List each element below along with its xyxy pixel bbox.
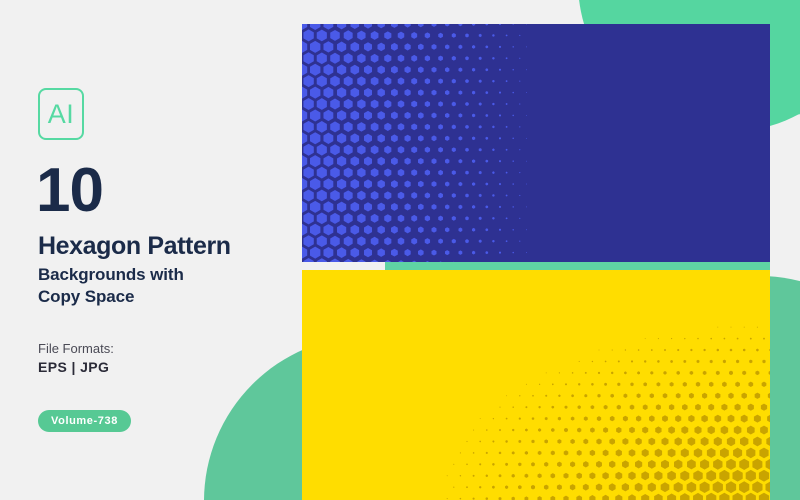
adobe-illustrator-badge-icon: AI [38, 88, 84, 140]
page-subtitle-line-2: Copy Space [38, 286, 184, 308]
page-title: Hexagon Pattern [38, 234, 231, 259]
file-formats-label: File Formats: [38, 342, 114, 355]
yellow-hexagon-pattern [302, 270, 770, 500]
page-subtitle: Backgrounds with Copy Space [38, 264, 184, 308]
volume-badge: Volume-738 [38, 410, 131, 432]
ai-badge-label: AI [48, 101, 75, 128]
page-subtitle-line-1: Backgrounds with [38, 264, 184, 286]
pack-count: 10 [36, 160, 103, 222]
yellow-hexagon-panel [302, 270, 770, 500]
file-formats-value: EPS | JPG [38, 360, 109, 374]
info-column: AI 10 Hexagon Pattern Backgrounds with C… [38, 0, 288, 500]
blue-hexagon-pattern [302, 24, 770, 262]
blue-hexagon-panel [302, 24, 770, 262]
poster-canvas: AI 10 Hexagon Pattern Backgrounds with C… [0, 0, 800, 500]
